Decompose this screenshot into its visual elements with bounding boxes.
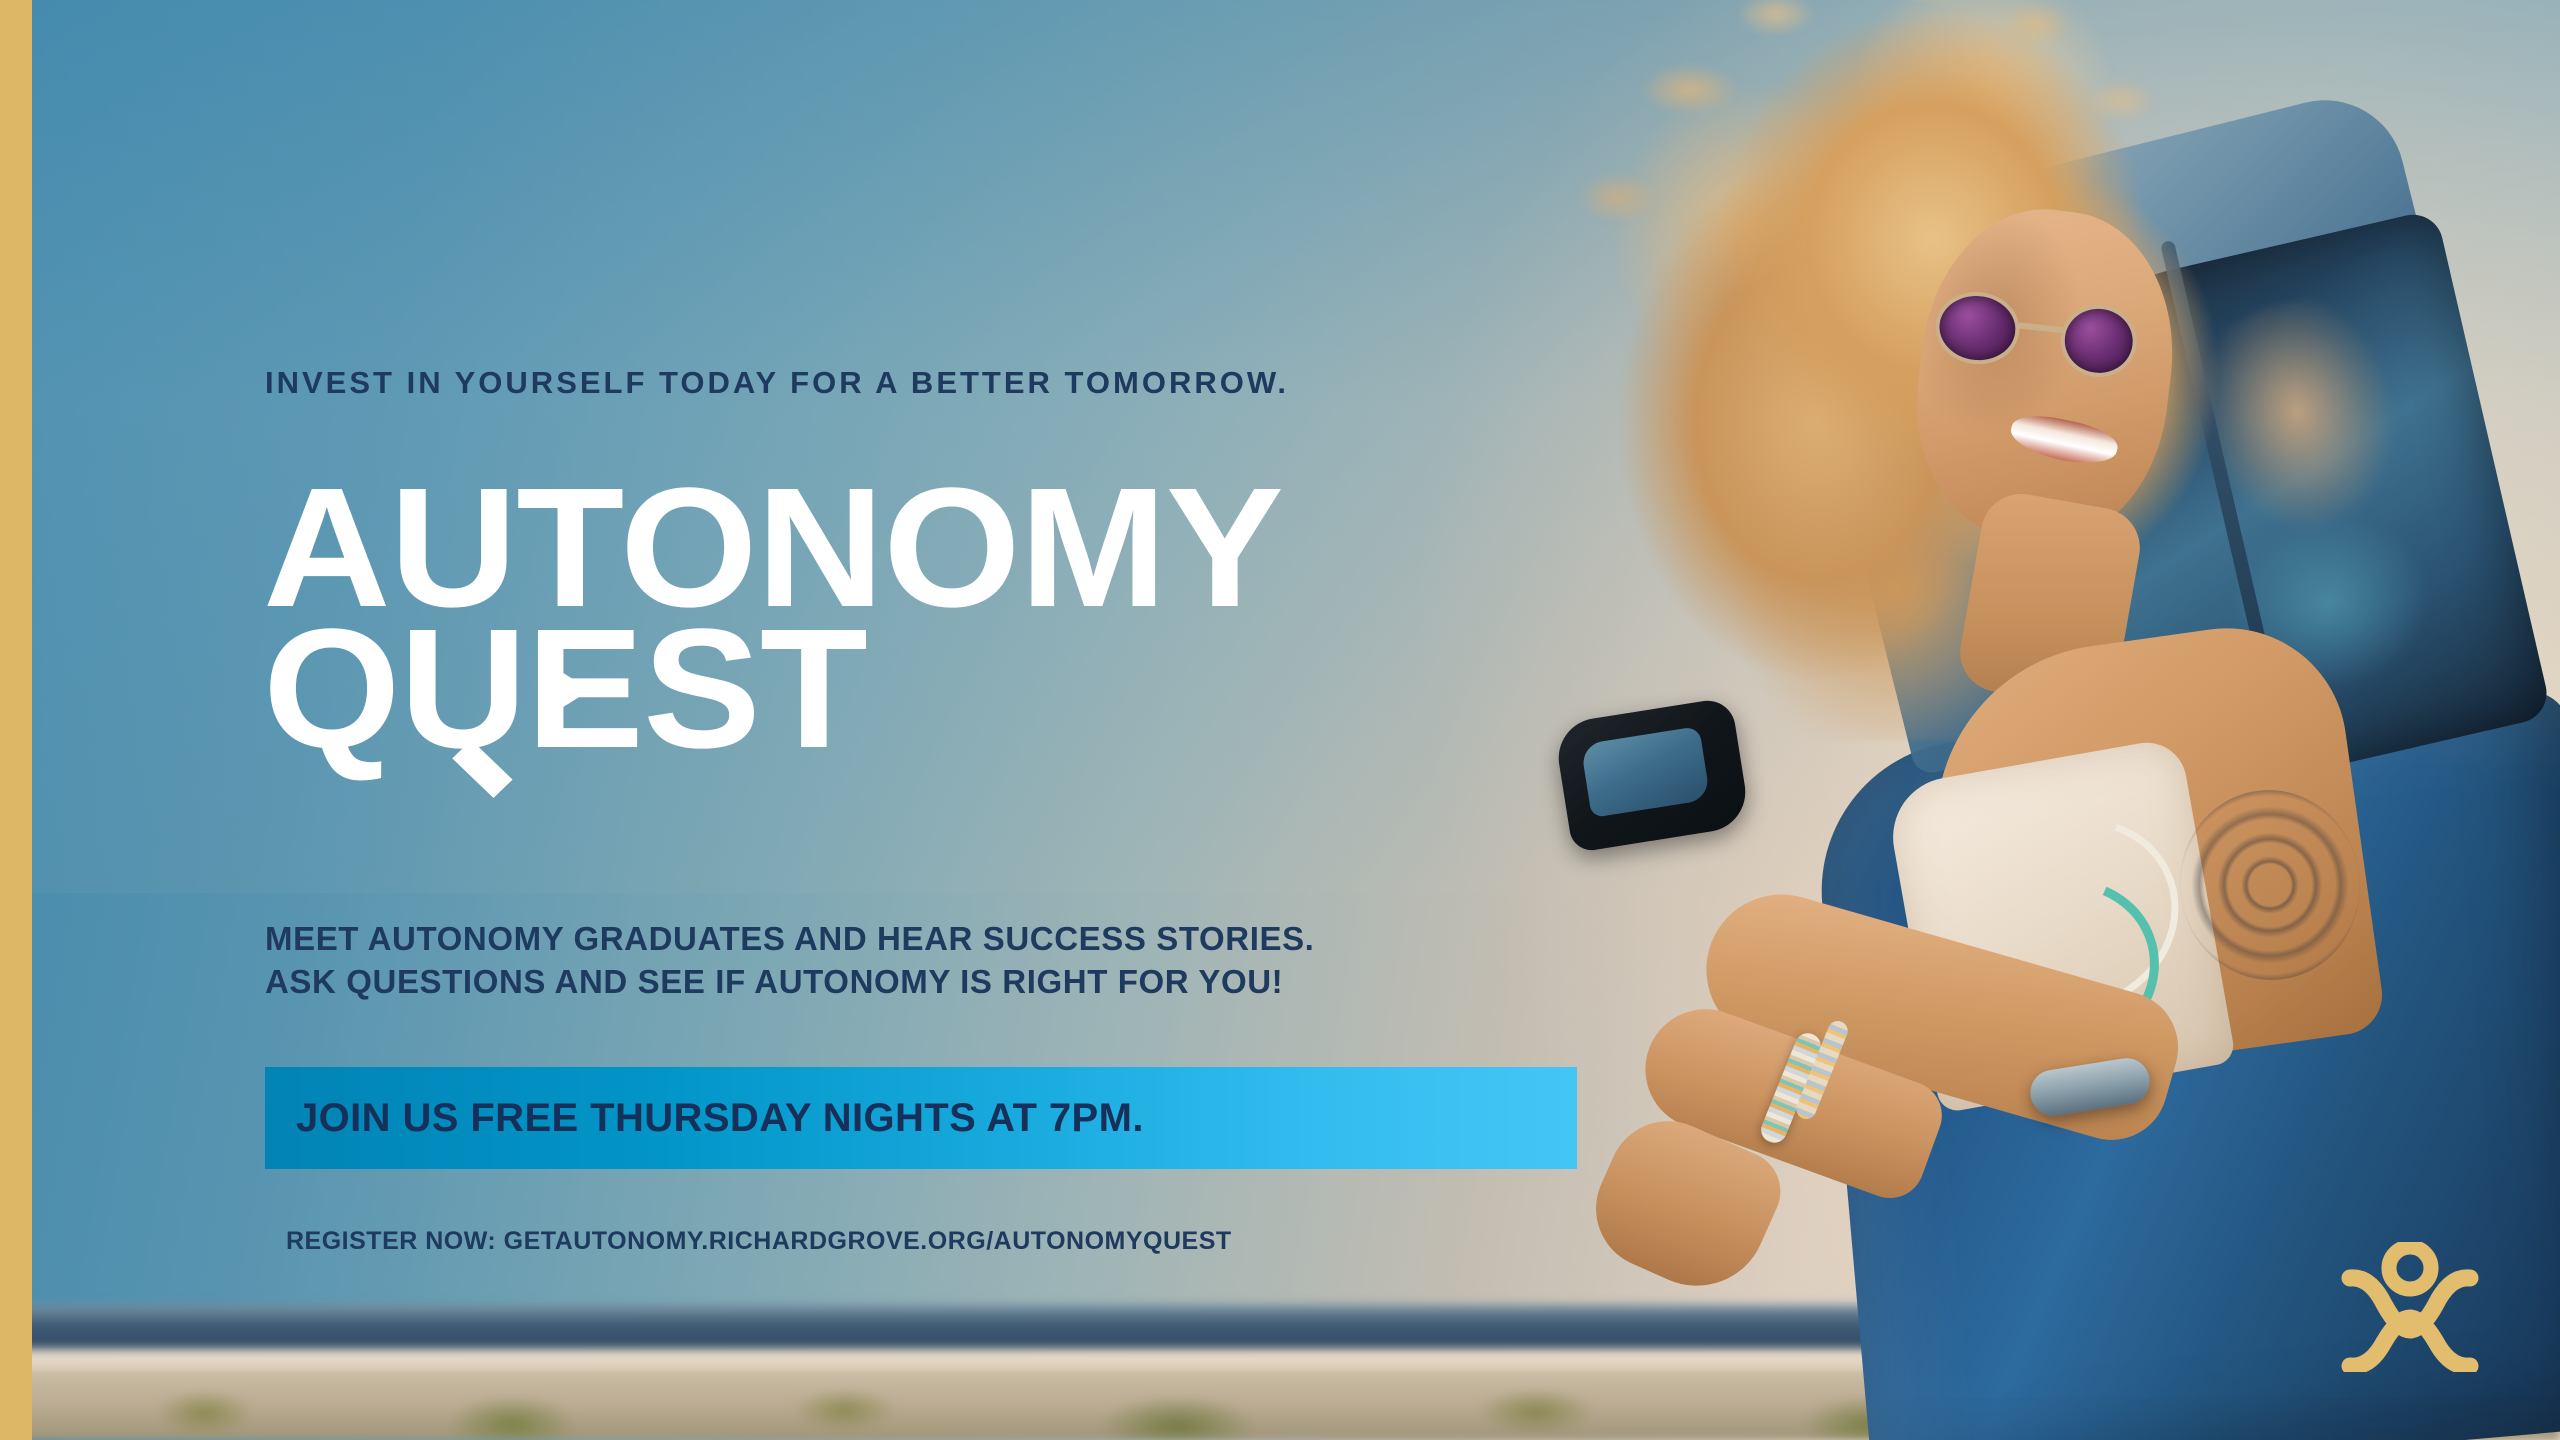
headline-quest-st: ST (643, 619, 867, 760)
headline-quest-e: E (526, 619, 643, 760)
cta-banner[interactable]: JOIN US FREE THURSDAY NIGHTS AT 7PM. (265, 1067, 1577, 1169)
play-triangle-icon (541, 659, 591, 721)
headline-quest-qu: QU (263, 619, 526, 760)
body-line-2: ASK QUESTIONS AND SEE IF AUTONOMY IS RIG… (265, 961, 1314, 1004)
headline-line-2: QU E ST (263, 619, 1283, 760)
promo-banner: INVEST IN YOURSELF TODAY FOR A BETTER TO… (0, 0, 2560, 1440)
tagline: INVEST IN YOURSELF TODAY FOR A BETTER TO… (265, 365, 1289, 401)
body-line-1: MEET AUTONOMY GRADUATES AND HEAR SUCCESS… (265, 918, 1314, 961)
body-copy: MEET AUTONOMY GRADUATES AND HEAR SUCCESS… (265, 918, 1314, 1004)
headline-block: AUTONOMY QU E ST (263, 478, 1283, 760)
sunglass-lens-left (1932, 288, 2023, 368)
register-url[interactable]: REGISTER NOW: GETAUTONOMY.RICHARDGROVE.O… (286, 1227, 1232, 1256)
gold-accent-bar (0, 0, 32, 1440)
woman-in-car-photo (1540, 0, 2560, 1440)
banner-content: INVEST IN YOURSELF TODAY FOR A BETTER TO… (265, 0, 1665, 1440)
autonomy-logo-icon (2340, 1242, 2480, 1372)
cta-text: JOIN US FREE THURSDAY NIGHTS AT 7PM. (296, 1096, 1144, 1141)
sunglass-lens-right (2057, 301, 2140, 381)
sunglass-bridge (2018, 322, 2066, 333)
